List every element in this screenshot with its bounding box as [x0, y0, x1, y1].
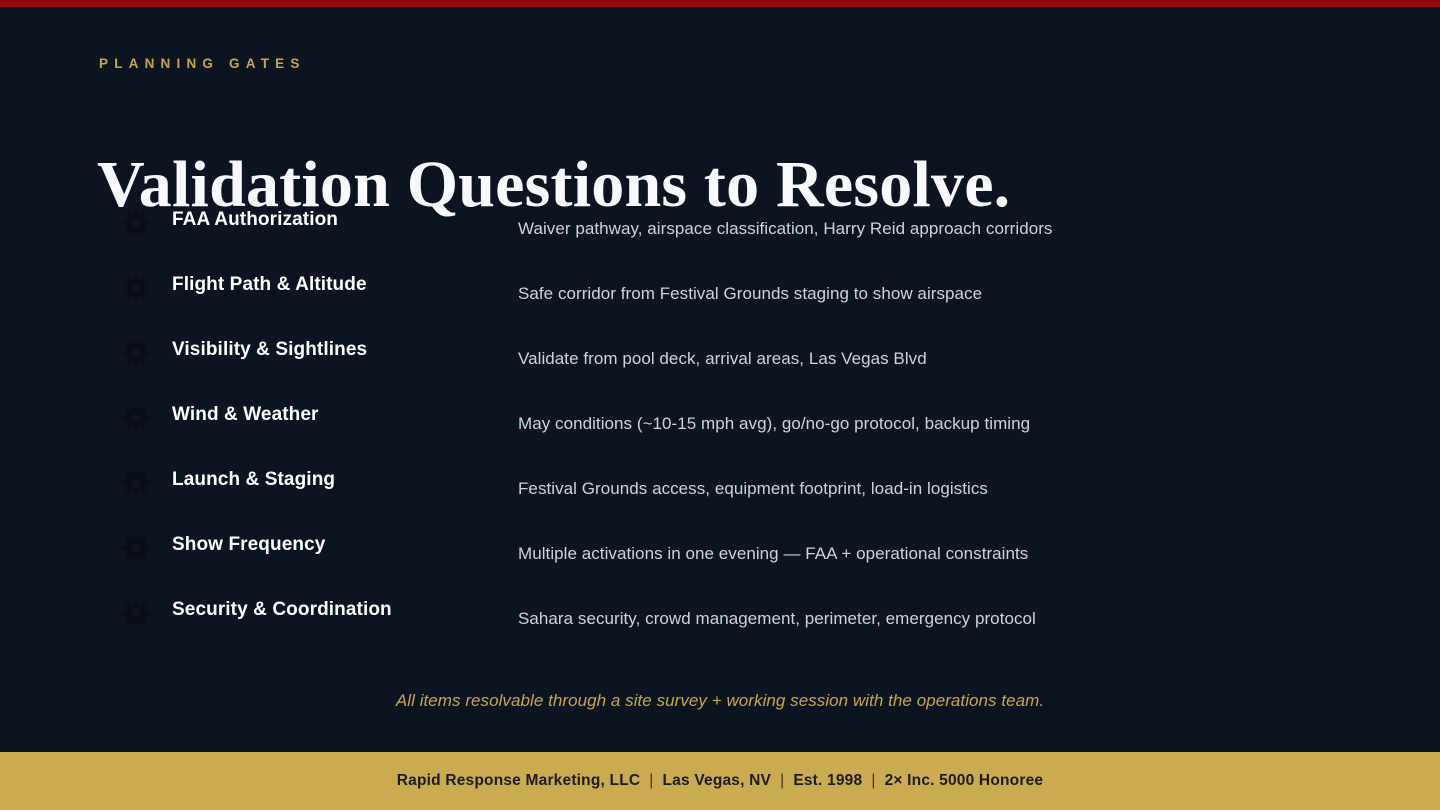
list-item: Launch & StagingFestival Grounds access,…	[0, 461, 1440, 526]
gear-icon	[123, 470, 149, 496]
gear-icon	[123, 535, 149, 561]
list-item-label: Visibility & Sightlines	[172, 339, 367, 361]
footer-part: Est. 1998	[793, 772, 862, 789]
slide-body: PLANNING GATES Validation Questions to R…	[0, 7, 1440, 752]
list-item-description: Validate from pool deck, arrival areas, …	[518, 349, 927, 369]
gear-icon	[123, 340, 149, 366]
list-item-label: Launch & Staging	[172, 469, 335, 491]
list-item-label: Wind & Weather	[172, 404, 319, 426]
footer-bar: Rapid Response Marketing, LLC|Las Vegas,…	[0, 752, 1440, 810]
footer-separator: |	[771, 772, 793, 790]
list-item: Show FrequencyMultiple activations in on…	[0, 526, 1440, 591]
list-item-label: FAA Authorization	[172, 209, 338, 231]
list-item-description: Festival Grounds access, equipment footp…	[518, 479, 988, 499]
footer-part: Las Vegas, NV	[663, 772, 772, 789]
list-item: Security & CoordinationSahara security, …	[0, 591, 1440, 656]
list-item: FAA AuthorizationWaiver pathway, airspac…	[0, 201, 1440, 266]
list-item-description: May conditions (~10-15 mph avg), go/no-g…	[518, 414, 1030, 434]
gear-icon	[123, 275, 149, 301]
footnote-text: All items resolvable through a site surv…	[0, 691, 1440, 711]
footer-separator: |	[862, 772, 884, 790]
list-item-description: Safe corridor from Festival Grounds stag…	[518, 284, 982, 304]
list-item-description: Sahara security, crowd management, perim…	[518, 609, 1036, 629]
list-item: Wind & WeatherMay conditions (~10-15 mph…	[0, 396, 1440, 461]
list-item-description: Waiver pathway, airspace classification,…	[518, 219, 1052, 239]
gear-icon	[123, 405, 149, 431]
list-item: Flight Path & AltitudeSafe corridor from…	[0, 266, 1440, 331]
list-item-label: Show Frequency	[172, 534, 325, 556]
list-item-label: Flight Path & Altitude	[172, 274, 367, 296]
footer-text: Rapid Response Marketing, LLC|Las Vegas,…	[397, 772, 1043, 790]
gear-icon	[123, 210, 149, 236]
validation-question-list: FAA AuthorizationWaiver pathway, airspac…	[0, 201, 1440, 656]
top-accent-bar	[0, 0, 1440, 7]
list-item-label: Security & Coordination	[172, 599, 392, 621]
eyebrow-label: PLANNING GATES	[99, 56, 306, 71]
footer-part: 2× Inc. 5000 Honoree	[885, 772, 1044, 789]
list-item: Visibility & SightlinesValidate from poo…	[0, 331, 1440, 396]
list-item-description: Multiple activations in one evening — FA…	[518, 544, 1028, 564]
footer-part: Rapid Response Marketing, LLC	[397, 772, 641, 789]
footer-separator: |	[640, 772, 662, 790]
gear-icon	[123, 600, 149, 626]
